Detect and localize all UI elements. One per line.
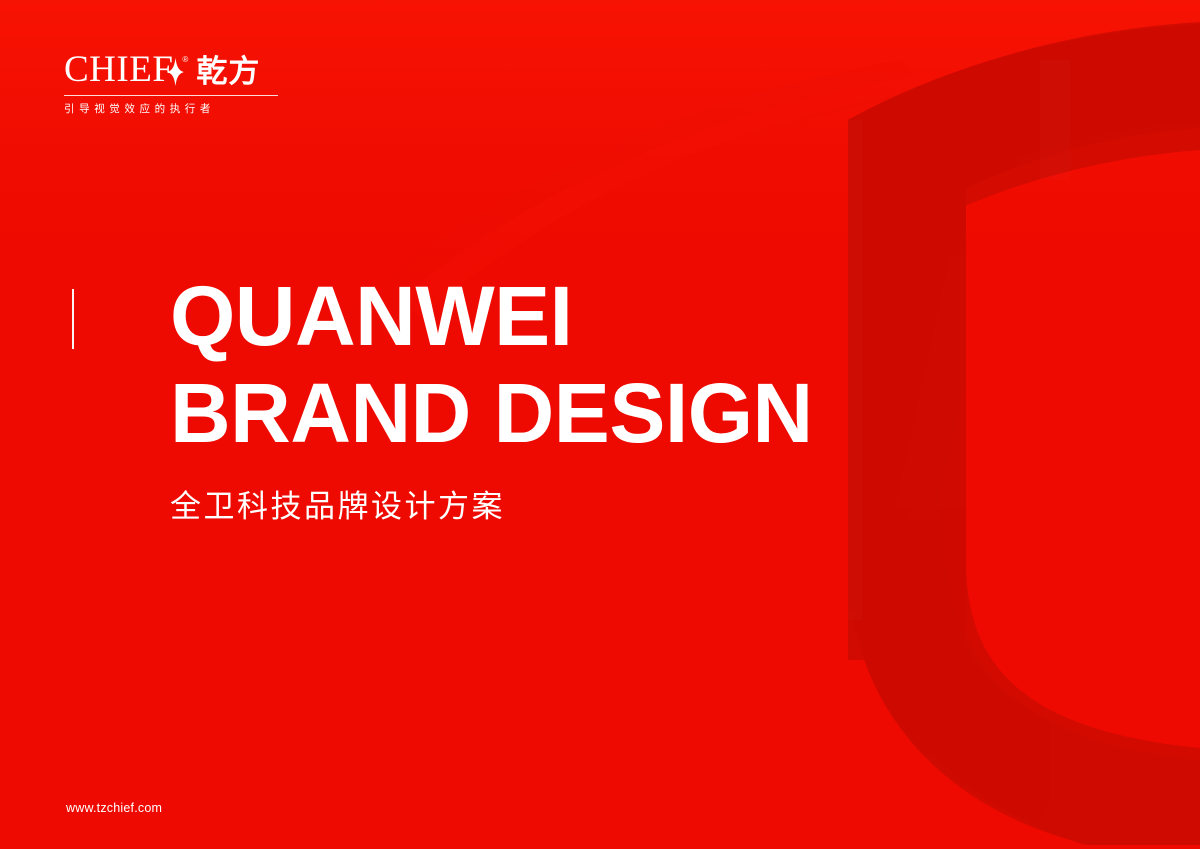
page-subtitle: 全卫科技品牌设计方案: [170, 487, 930, 527]
four-point-star-icon: ®: [166, 57, 185, 87]
title-accent-bar: [72, 289, 74, 349]
registered-mark: ®: [182, 56, 188, 64]
page-title-line-2: BRAND DESIGN: [170, 365, 930, 462]
hero-title-block: QUANWEI BRAND DESIGN 全卫科技品牌设计方案: [170, 268, 930, 527]
footer-website-url[interactable]: www.tzchief.com: [66, 800, 162, 816]
page-title-line-1: QUANWEI: [170, 268, 930, 365]
logo-primary-row: CHIEF ® 乾方: [64, 46, 294, 88]
logo-tagline: 引导视觉效应的执行者: [64, 102, 294, 116]
logo-chinese-name: 乾方: [196, 57, 260, 88]
brand-logo: CHIEF ® 乾方 引导视觉效应的执行者: [64, 46, 294, 116]
logo-divider: [64, 95, 278, 96]
slide-canvas: CHIEF ® 乾方 引导视觉效应的执行者 QUANWEI BRAND DESI…: [0, 0, 1200, 849]
logo-wordmark: CHIEF: [64, 51, 173, 88]
